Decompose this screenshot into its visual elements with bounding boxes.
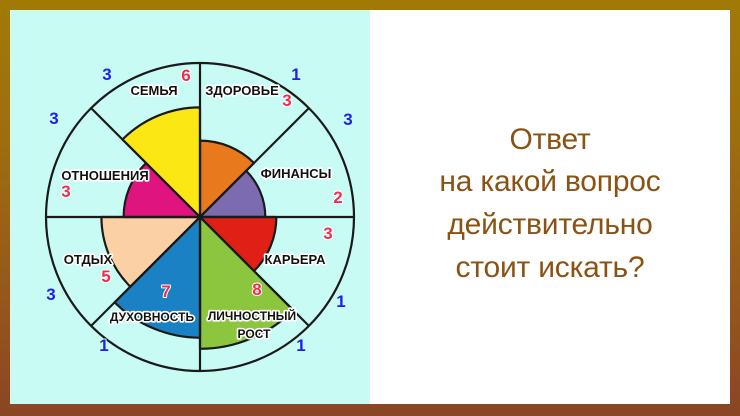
sector-4-outer-note: 1	[296, 336, 305, 355]
quote-line-4: стоит искать?	[456, 247, 645, 290]
sector-1-score-value: 3	[282, 91, 291, 110]
sector-8-score-value: 6	[181, 66, 190, 85]
wheel-of-life-chart: ЗДОРОВЬЕ31ФИНАНСЫ23КАРЬЕРА31ЛИЧНОСТНЫЙРО…	[10, 10, 370, 406]
sector-8-outer-note: 3	[102, 65, 111, 84]
sector-4-score-value: 8	[252, 280, 261, 299]
sector-7-score-value: 3	[61, 182, 70, 201]
quote-panel: Ответ на какой вопрос действительно стои…	[370, 10, 730, 404]
quote-line-1: Ответ	[509, 119, 590, 162]
sector-4-name-label-line2: РОСТ	[238, 327, 272, 341]
sector-3-outer-note: 1	[336, 292, 345, 311]
quote-line-3: действительно	[447, 204, 652, 247]
slide: ЗДОРОВЬЕ31ФИНАНСЫ23КАРЬЕРА31ЛИЧНОСТНЫЙРО…	[0, 0, 740, 416]
sector-7-name-label: ОТНОШЕНИЯ	[61, 168, 148, 183]
sector-4-name-label: ЛИЧНОСТНЫЙ	[208, 308, 296, 323]
sector-3-name-label: КАРЬЕРА	[265, 252, 327, 267]
wheel-of-life-panel: ЗДОРОВЬЕ31ФИНАНСЫ23КАРЬЕРА31ЛИЧНОСТНЫЙРО…	[10, 10, 370, 404]
sector-6-name-label: ОТДЫХ	[64, 252, 113, 267]
sector-3-score-value: 3	[323, 224, 332, 243]
sector-5-outer-note: 1	[99, 336, 108, 355]
quote-line-2: на какой вопрос	[439, 161, 660, 204]
sector-6-score-value: 5	[101, 267, 110, 286]
spoke-group	[46, 63, 354, 371]
sector-2-name-label: ФИНАНСЫ	[261, 166, 332, 181]
sector-1-name-label: ЗДОРОВЬЕ	[205, 83, 279, 98]
sector-8-name-label: СЕМЬЯ	[130, 83, 177, 98]
sector-7-outer-note: 3	[49, 109, 58, 128]
sector-2-outer-note: 3	[343, 110, 352, 129]
slide-content: ЗДОРОВЬЕ31ФИНАНСЫ23КАРЬЕРА31ЛИЧНОСТНЫЙРО…	[10, 10, 730, 404]
sector-5-name-label: ДУХОВНОСТЬ	[110, 310, 195, 324]
sector-6-outer-note: 3	[46, 285, 55, 304]
sector-1-outer-note: 1	[291, 65, 300, 84]
sector-2-score-value: 2	[333, 188, 342, 207]
sector-5-score-value: 7	[161, 282, 170, 301]
